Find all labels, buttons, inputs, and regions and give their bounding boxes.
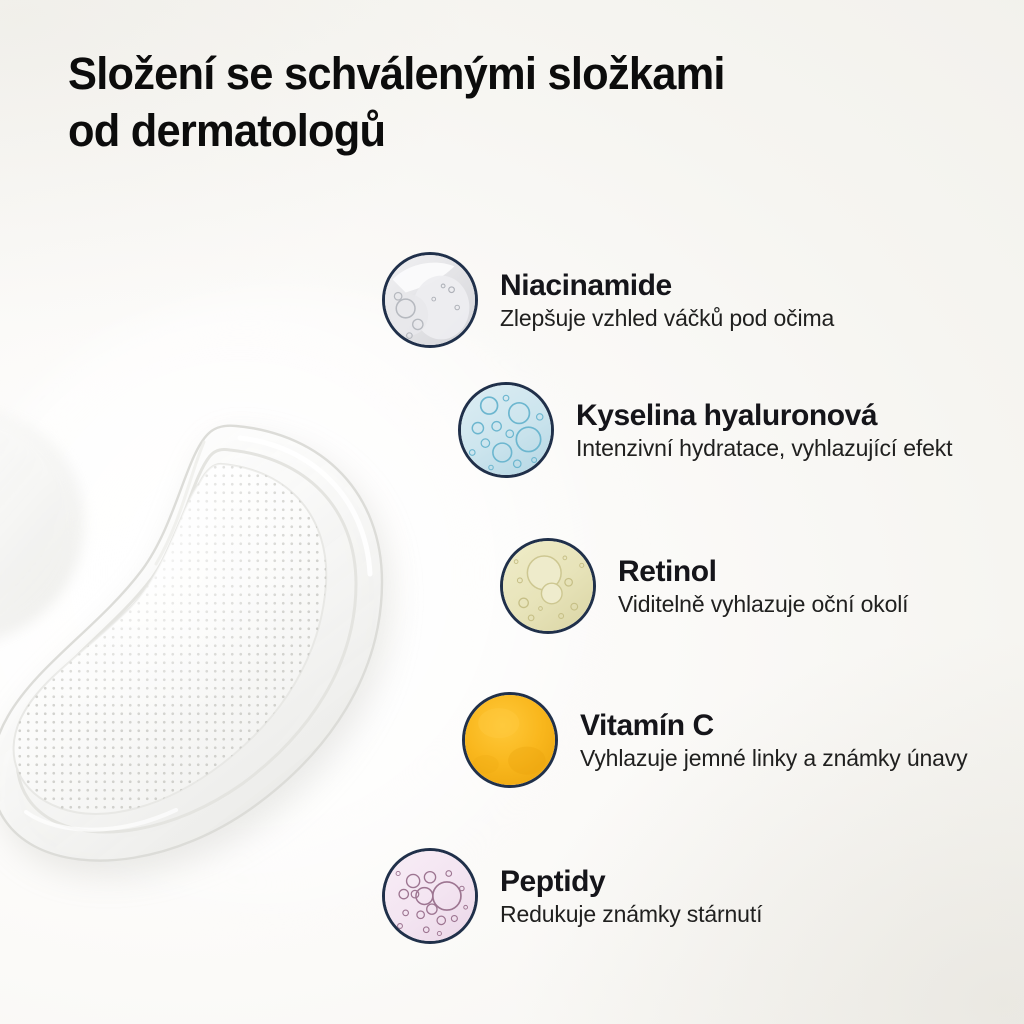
solid-serum-swatch-icon xyxy=(462,692,558,788)
bubbles-swatch-icon xyxy=(458,382,554,478)
ingredient-row-vitamin-c: Vitamín C Vyhlazuje jemné linky a známky… xyxy=(462,692,968,788)
infographic-page: Složení se schválenými složkami od derma… xyxy=(0,0,1024,1024)
ingredient-description: Intenzivní hydratace, vyhlazující efekt xyxy=(576,435,952,462)
ingredient-title: Niacinamide xyxy=(500,270,834,302)
gel-texture-swatch-icon xyxy=(382,252,478,348)
ingredient-title: Peptidy xyxy=(500,866,762,898)
ingredient-row-niacinamide: Niacinamide Zlepšuje vzhled váčků pod oč… xyxy=(382,252,834,348)
ingredient-text: Peptidy Redukuje známky stárnutí xyxy=(500,864,762,929)
ingredient-title: Kyselina hyaluronová xyxy=(576,400,952,432)
ingredient-title: Retinol xyxy=(618,556,908,588)
ingredient-description: Redukuje známky stárnutí xyxy=(500,901,762,928)
ingredient-description: Vyhlazuje jemné linky a známky únavy xyxy=(580,745,968,772)
ingredient-text: Vitamín C Vyhlazuje jemné linky a známky… xyxy=(580,708,968,773)
ingredient-row-peptidy: Peptidy Redukuje známky stárnutí xyxy=(382,848,762,944)
ingredient-description: Zlepšuje vzhled váčků pod očima xyxy=(500,305,834,332)
ingredient-row-kyselina-hyaluronova: Kyselina hyaluronová Intenzivní hydratac… xyxy=(458,382,952,478)
ingredient-list: Niacinamide Zlepšuje vzhled váčků pod oč… xyxy=(0,0,1024,1024)
ingredient-text: Retinol Viditelně vyhlazuje oční okolí xyxy=(618,554,908,619)
ingredient-row-retinol: Retinol Viditelně vyhlazuje oční okolí xyxy=(500,538,908,634)
ingredient-description: Viditelně vyhlazuje oční okolí xyxy=(618,591,908,618)
ingredient-text: Niacinamide Zlepšuje vzhled váčků pod oč… xyxy=(500,268,834,333)
ingredient-text: Kyselina hyaluronová Intenzivní hydratac… xyxy=(576,398,952,463)
pink-bubbles-swatch-icon xyxy=(382,848,478,944)
ingredient-title: Vitamín C xyxy=(580,710,968,742)
oil-droplets-swatch-icon xyxy=(500,538,596,634)
